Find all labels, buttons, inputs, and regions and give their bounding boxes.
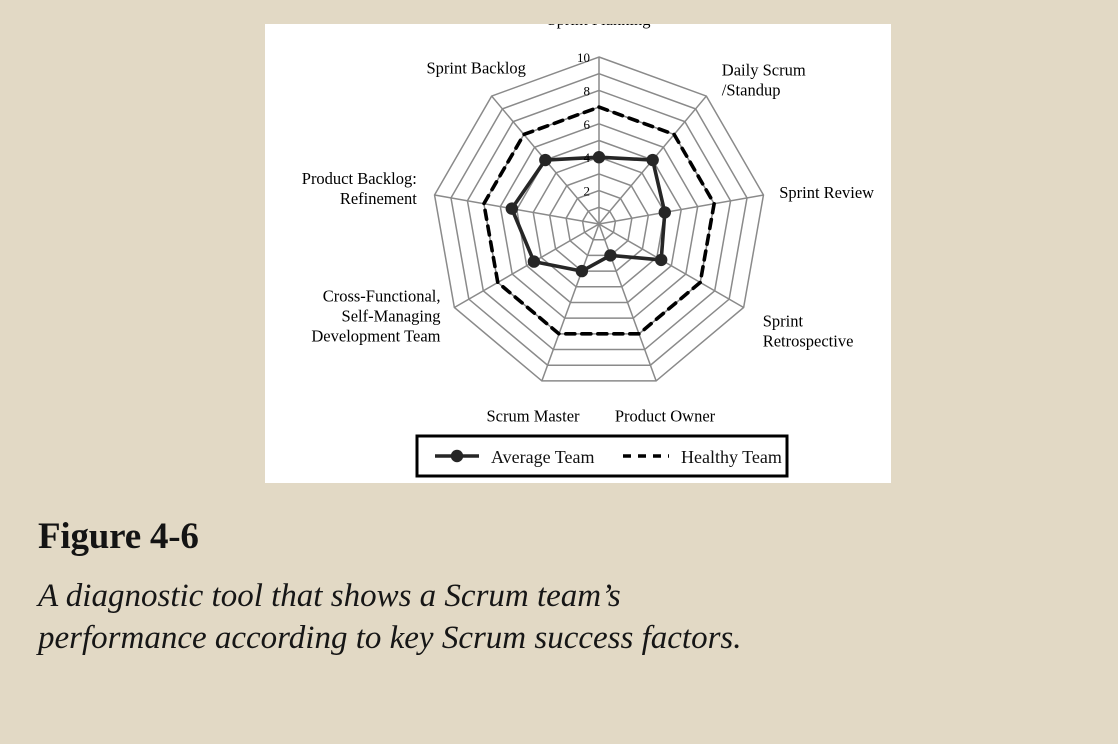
r-tick-label-8: 8 — [584, 83, 591, 98]
data-point-0-0 — [593, 151, 605, 163]
axis-label-1: Daily Scrum/Standup — [722, 61, 806, 100]
data-point-0-5 — [576, 265, 588, 277]
legend-marker-average-team — [451, 450, 463, 462]
axis-label-3: SprintRetrospective — [763, 312, 854, 351]
radar-spoke-3 — [599, 224, 744, 308]
r-tick-label-2: 2 — [584, 184, 591, 199]
figure-caption-block: Figure 4-6 A diagnostic tool that shows … — [38, 518, 1078, 659]
data-point-0-2 — [659, 206, 671, 218]
legend-label-average-team: Average Team — [491, 447, 595, 467]
axis-label-6: Cross-Functional,Self-ManagingDevelopmen… — [311, 287, 440, 346]
axis-label-7: Product Backlog:Refinement — [302, 169, 417, 208]
radar-spoke-2 — [599, 195, 763, 224]
axis-label-0: Sprint Planning — [547, 24, 650, 29]
radar-spoke-6 — [454, 224, 599, 308]
data-point-0-8 — [539, 154, 551, 166]
axis-label-5: Scrum Master — [486, 406, 580, 425]
axis-label-2: Sprint Review — [779, 183, 874, 202]
radar-tick-labels: 246810 — [577, 50, 591, 199]
axis-label-8: Sprint Backlog — [426, 59, 525, 78]
figure-number: Figure 4-6 — [38, 518, 1078, 557]
data-point-0-7 — [506, 202, 518, 214]
legend-label-healthy-team: Healthy Team — [681, 447, 782, 467]
r-tick-label-6: 6 — [584, 117, 591, 132]
axis-label-4: Product Owner — [615, 406, 716, 425]
data-point-0-6 — [528, 255, 540, 267]
figure-caption-line-2: performance according to key Scrum succe… — [38, 617, 1078, 659]
data-point-0-4 — [604, 249, 616, 261]
chart-legend: Average TeamHealthy Team — [417, 436, 787, 476]
r-tick-label-4: 4 — [584, 150, 591, 165]
r-tick-label-10: 10 — [577, 50, 590, 65]
figure-caption-line-1: A diagnostic tool that shows a Scrum tea… — [38, 575, 1078, 617]
radar-chart: 246810 Sprint PlanningDaily Scrum/Standu… — [265, 24, 891, 483]
figure-panel: 246810 Sprint PlanningDaily Scrum/Standu… — [265, 24, 891, 483]
data-point-0-3 — [655, 254, 667, 266]
data-point-0-1 — [646, 154, 658, 166]
